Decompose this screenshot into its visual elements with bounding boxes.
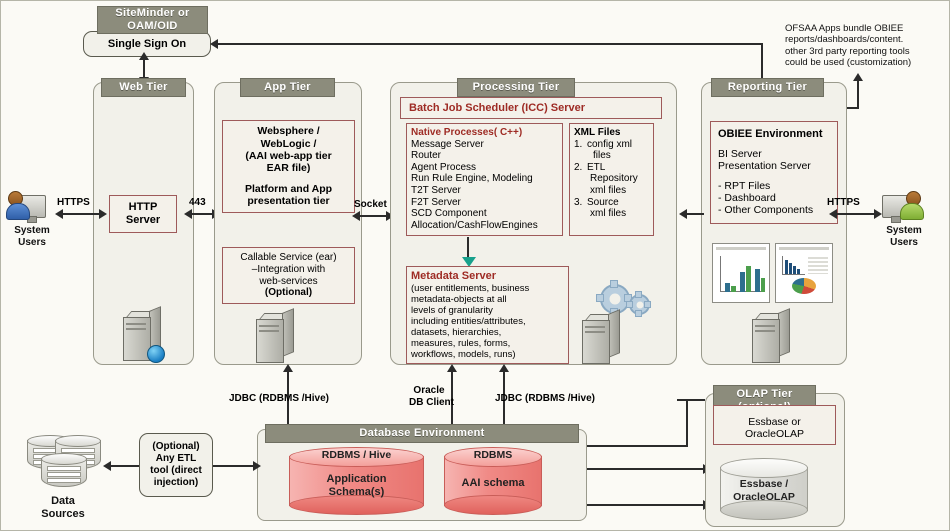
olap-engine-box: Essbase or OracleOLAP [713, 405, 836, 445]
architecture-diagram: Single Sign On SiteMinder or OAM/OID OFS… [0, 0, 950, 531]
xml-item-1-num: 1. [574, 139, 587, 151]
jdbc-left-arrow-up-icon [283, 364, 293, 372]
xml-item-2-text: ETL [587, 162, 605, 174]
http-server-box: HTTP Server [109, 195, 177, 233]
etl-to-datasources-arrow-icon [103, 461, 111, 471]
reporting-tier-header: Reporting Tier [711, 78, 824, 97]
olap-box-line-2: OracleOLAP [718, 428, 831, 440]
processing-to-olap-v [686, 399, 688, 447]
sso-arrow-up-icon [139, 52, 149, 60]
right-user-label-line-1: System [869, 225, 939, 237]
jdbc-left-label: JDBC (RDBMS /Hive) [229, 393, 329, 404]
obiee-server-2: Presentation Server [718, 160, 830, 172]
reporting-note-line-4: could be used (customization) [785, 57, 950, 68]
rdbms-hive-top-label: RDBMS / Hive [289, 449, 424, 462]
reporting-tier-label: Reporting Tier [728, 81, 807, 94]
processing-tier-header: Processing Tier [457, 78, 575, 97]
database-environment-header: Database Environment [265, 424, 579, 443]
db-to-olap-line-2 [587, 504, 707, 506]
socket-arrow-left-icon [352, 211, 360, 221]
obiee-environment-box: OBIEE Environment BI Server Presentation… [710, 121, 838, 224]
callable-line-3: web-services [227, 276, 350, 288]
native-processes-box: Native Processes( C++) Message Server Ro… [406, 123, 563, 236]
xml-item-2-num: 2. [574, 162, 587, 174]
http-server-line-1: HTTP [114, 201, 172, 214]
xml-item-1-text: config xml [587, 139, 632, 151]
left-user-icon [6, 189, 58, 223]
app-tier-label: App Tier [264, 81, 311, 94]
native-item-1: Message Server [411, 139, 558, 151]
xml-item-3-cont: xml files [574, 208, 649, 220]
etl-line-3: tool (direct [150, 465, 202, 477]
xml-item-2: 2. ETL [574, 162, 649, 174]
web-tier-label: Web Tier [119, 81, 167, 94]
etl-line-1: (Optional) [152, 441, 199, 453]
obiee-component-2: - Dashboard [718, 192, 830, 204]
essbase-cylinder-label: Essbase / OracleOLAP [720, 478, 808, 503]
olap-box-line-1: Essbase or [718, 416, 831, 428]
data-sources-icon [23, 435, 103, 491]
rdbms-hive-cylinder-icon: RDBMS / Hive Application Schema(s) [289, 447, 424, 515]
https-right-arrow-left-icon [829, 209, 837, 219]
oracle-db-client-label: Oracle DB Client [409, 385, 449, 408]
callable-line-1: Callable Service (ear) [227, 252, 350, 264]
xml-item-1-cont: files [574, 150, 649, 162]
native-processes-heading: Native Processes( C++) [411, 127, 558, 139]
etl-tool-box: (Optional) Any ETL tool (direct injectio… [139, 433, 213, 497]
reporting-note-line-2: reports/dashboards/content. [785, 34, 950, 45]
rdbms-aai-body-label: AAI schema [444, 477, 542, 490]
obiee-component-1: - RPT Files [718, 180, 830, 192]
web-tier-header: Web Tier [101, 78, 186, 97]
reporting-note-line-1: OFSAA Apps bundle OBIEE [785, 23, 950, 34]
metadata-line-2: metadata-objects at all [411, 294, 564, 305]
database-environment-label: Database Environment [359, 427, 484, 440]
batch-job-scheduler-label: Batch Job Scheduler (ICC) Server [409, 102, 585, 115]
reporting-note: OFSAA Apps bundle OBIEE reports/dashboar… [785, 23, 950, 69]
data-sources-label-line-2: Sources [19, 508, 107, 521]
note-to-sso-line [216, 43, 762, 45]
native-item-4: Run Rule Engine, Modeling [411, 173, 558, 185]
xml-item-3: 3. Source [574, 197, 649, 209]
app-tier-server-icon [256, 313, 296, 363]
callable-line-2: –Integration with [227, 264, 350, 276]
etl-line-4: injection) [154, 477, 198, 489]
https-left-arrow-left-icon [55, 209, 63, 219]
etl-line-2: Any ETL [156, 453, 197, 465]
left-user-label-line-1: System [1, 225, 63, 237]
metadata-line-7: workflows, models, runs) [411, 349, 564, 360]
xml-item-3-text: Source [587, 197, 619, 209]
websphere-weblogic-box: Websphere / WebLogic / (AAI web-app tier… [222, 120, 355, 213]
note-to-sso-arrow-icon [210, 39, 218, 49]
websphere-line-3: (AAI web-app tier [227, 150, 350, 162]
reporting-to-processing-line [684, 213, 704, 215]
https-right-line [835, 213, 877, 215]
xml-files-heading: XML Files [574, 127, 649, 139]
metadata-server-heading: Metadata Server [411, 270, 564, 283]
metadata-line-5: datasets, hierarchies, [411, 327, 564, 338]
websphere-line-2: WebLogic / [227, 138, 350, 150]
db-to-olap-line-1 [587, 468, 707, 470]
metadata-line-6: measures, rules, forms, [411, 338, 564, 349]
left-user-label-line-2: Users [1, 237, 63, 249]
processing-to-olap-h [587, 445, 688, 447]
right-user-label-line-2: Users [869, 237, 939, 249]
single-sign-on-label: Single Sign On [108, 38, 186, 51]
app-tier-header: App Tier [240, 78, 335, 97]
obiee-heading: OBIEE Environment [718, 128, 830, 141]
jdbc-right-arrow-up-icon [499, 364, 509, 372]
processing-to-olap-top [677, 399, 705, 401]
etl-to-datasources-line [109, 465, 139, 467]
xml-item-2-cont-2: xml files [574, 185, 649, 197]
native-item-2: Router [411, 150, 558, 162]
jdbc-right-label: JDBC (RDBMS /Hive) [495, 393, 595, 404]
report-bar-chart-icon [712, 243, 770, 303]
gears-group-icon [596, 282, 648, 314]
rdbms-aai-cylinder-icon: RDBMS AAI schema [444, 447, 542, 515]
xml-item-1: 1. config xml [574, 139, 649, 151]
reporting-tier-server-icon [752, 313, 792, 363]
socket-label: Socket [354, 199, 387, 210]
native-item-8: Allocation/CashFlowEngines [411, 220, 558, 232]
https-right-arrow-right-icon [874, 209, 882, 219]
callable-line-4: (Optional) [227, 287, 350, 299]
metadata-line-4: including entities/attributes, [411, 316, 564, 327]
oracle-db-client-line-2: DB Client [409, 397, 449, 409]
olap-tier-label-line-1: OLAP Tier [736, 388, 792, 401]
reporting-note-line-3: other 3rd party reporting tools [785, 46, 950, 57]
data-sources-label-line-1: Data [19, 495, 107, 508]
rdbms-hive-body-label: Application Schema(s) [289, 473, 424, 499]
obiee-server-1: BI Server [718, 148, 830, 160]
processing-tier-server-icon [582, 314, 622, 364]
data-sources-label: Data Sources [19, 495, 107, 520]
etl-to-db-arrow-icon [253, 461, 261, 471]
note-hook-v [857, 79, 859, 109]
obiee-component-3: - Other Components [718, 204, 830, 216]
websphere-sub-line-2: presentation tier [227, 195, 350, 207]
port-443-arrow-left-icon [184, 209, 192, 219]
note-hook-arrow-icon [853, 73, 863, 81]
note-down-line [761, 43, 763, 82]
websphere-line-1: Websphere / [227, 125, 350, 137]
metadata-line-1: (user entitlements, business [411, 283, 564, 294]
https-left-arrow-right-icon [99, 209, 107, 219]
https-left-line [61, 213, 101, 215]
xml-item-2-cont-1: Repository [574, 173, 649, 185]
report-dashboard-icon [775, 243, 833, 303]
https-right-label: HTTPS [827, 197, 860, 208]
rdbms-hive-body-line-1: Application [289, 473, 424, 486]
metadata-server-box: Metadata Server (user entitlements, busi… [406, 266, 569, 364]
oracle-db-client-line-1: Oracle [409, 385, 449, 397]
metadata-line-3: levels of granularity [411, 305, 564, 316]
websphere-line-4: EAR file) [227, 162, 350, 174]
xml-item-3-num: 3. [574, 197, 587, 209]
data-source-db-3 [41, 453, 85, 487]
https-left-label: HTTPS [57, 197, 90, 208]
rdbms-hive-body-line-2: Schema(s) [289, 486, 424, 499]
http-server-line-2: Server [114, 214, 172, 227]
native-to-metadata-line [467, 237, 469, 259]
batch-job-scheduler-box: Batch Job Scheduler (ICC) Server [400, 97, 662, 119]
etl-to-db-line [213, 465, 257, 467]
port-443-label: 443 [189, 197, 206, 208]
websphere-sub-line-1: Platform and App [227, 183, 350, 195]
essbase-cylinder-line-1: Essbase / [720, 478, 808, 491]
siteminder-label: SiteMinder or OAM/OID [98, 7, 207, 32]
essbase-cylinder-icon: Essbase / OracleOLAP [720, 458, 808, 520]
callable-service-box: Callable Service (ear) –Integration with… [222, 247, 355, 304]
right-user-label: System Users [869, 225, 939, 248]
left-user-label: System Users [1, 225, 63, 248]
reporting-to-processing-arrow-icon [679, 209, 687, 219]
native-item-3: Agent Process [411, 162, 558, 174]
socket-line [357, 215, 389, 217]
essbase-cylinder-line-2: OracleOLAP [720, 491, 808, 504]
native-item-7: SCD Component [411, 208, 558, 220]
processing-tier-label: Processing Tier [473, 81, 560, 94]
siteminder-header: SiteMinder or OAM/OID [97, 6, 208, 34]
native-item-5: T2T Server [411, 185, 558, 197]
web-tier-server-icon [123, 311, 163, 361]
native-item-6: F2T Server [411, 197, 558, 209]
rdbms-aai-top-label: RDBMS [444, 449, 542, 462]
oracle-db-client-arrow-up-icon [447, 364, 457, 372]
right-user-icon [878, 189, 930, 223]
xml-files-box: XML Files 1. config xml files 2. ETL Rep… [569, 123, 654, 236]
